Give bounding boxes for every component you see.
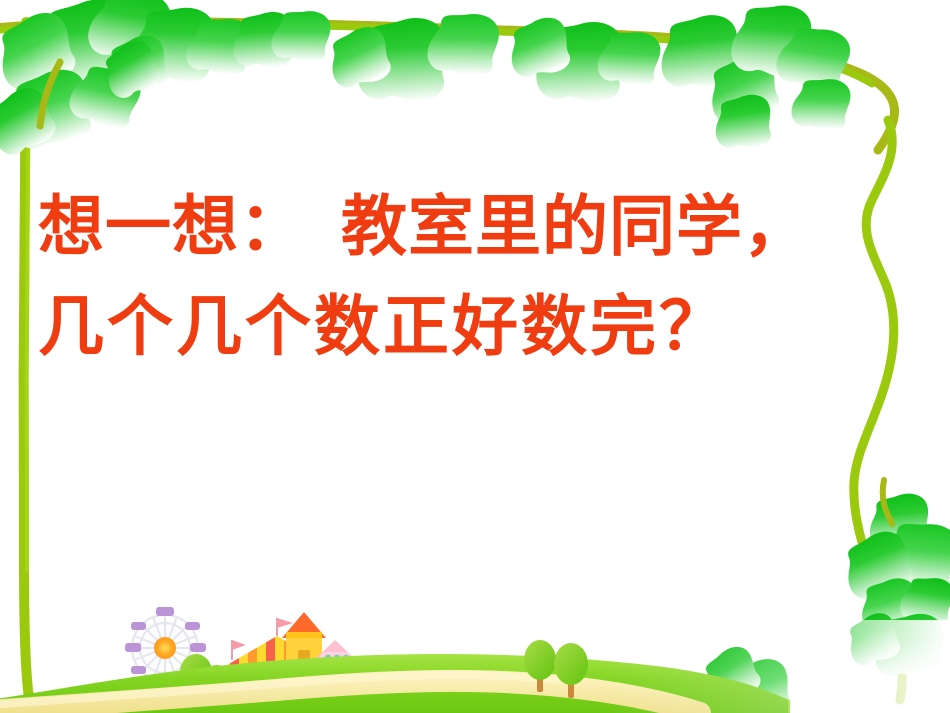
ferris-wheel [125,607,206,700]
leaf-cluster-right-lower [695,480,950,713]
hill-back [0,656,790,713]
hill-fade-overlay [600,620,950,713]
ferris-wheel-hub [154,637,176,659]
slide-canvas: 想一想： 教室里的同学， 几个几个数正好数完？ [0,0,950,713]
castle-door [296,672,312,692]
title-line-1: 想一想： 教室里的同学， [38,178,918,278]
castle-window [298,650,310,664]
top-vine-stem [0,22,895,150]
tent-stripes [230,630,327,674]
castle-tower [286,636,322,692]
tent-flags [232,618,293,660]
circus-tent [222,618,332,690]
slide-title-block: 想一想： 教室里的同学， 几个几个数正好数完？ [38,178,918,378]
hill-front [0,654,788,713]
pink-house [316,640,354,692]
leaf-cluster-top-center [321,9,500,105]
bush-group-left [180,654,230,691]
title-line-2: 几个几个数正好数完？ [38,278,918,378]
leaf-cluster-top-middle [95,6,332,105]
ferris-wheel-cabins [125,607,206,689]
winding-path [0,675,700,713]
left-vine-stem [24,22,30,706]
leaf-cluster-top-right-mid [503,13,663,104]
castle-roof [282,612,326,638]
leaf-cluster-top-right [657,2,855,152]
bush-group-right [346,664,374,692]
tent-base [224,668,330,690]
leaf-cluster-top-left [0,0,174,163]
castle [282,612,326,692]
tree-pair-right [524,640,588,698]
